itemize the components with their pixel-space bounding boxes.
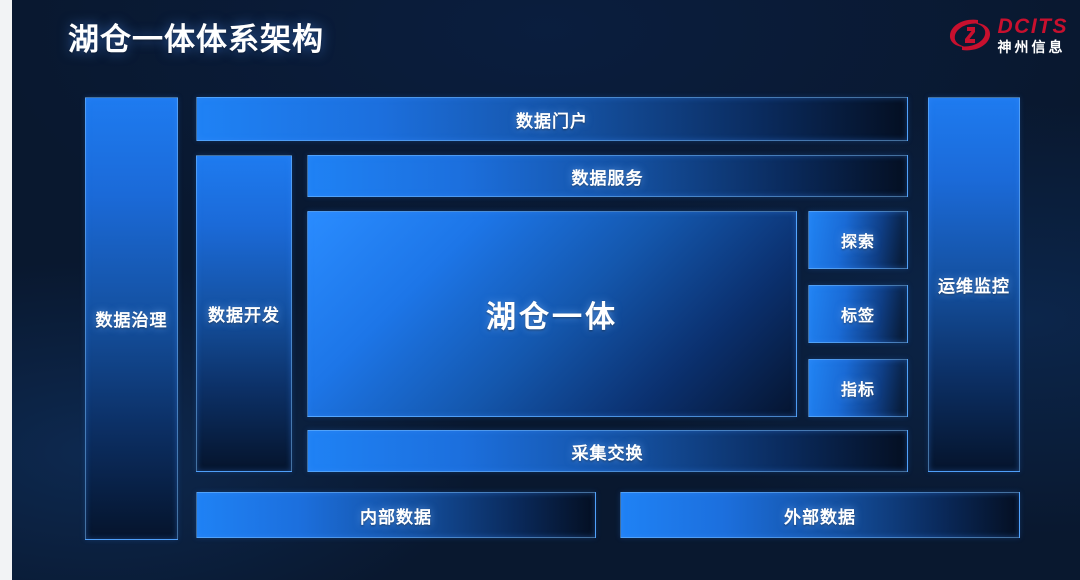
block-label: 标签	[841, 302, 875, 326]
block-external-data[interactable]: 外部数据	[620, 492, 1020, 538]
brand-name-en: DCITS	[998, 16, 1069, 37]
block-label: 数据门户	[516, 107, 588, 132]
brand-logo: DCITS 神州信息	[948, 10, 1069, 60]
block-ops-monitoring[interactable]: 运维监控	[928, 97, 1020, 472]
block-label: 指标	[841, 376, 875, 400]
block-label: 数据开发	[208, 301, 280, 326]
brand-logo-text: DCITS 神州信息	[998, 16, 1069, 54]
block-label: 运维监控	[938, 272, 1010, 297]
diagram-background: 湖仓一体体系架构 DCITS 神州信息 数据治理 数据开发 数据门	[12, 0, 1080, 580]
block-data-development[interactable]: 数据开发	[196, 155, 292, 472]
page-title: 湖仓一体体系架构	[68, 14, 324, 59]
block-data-service[interactable]: 数据服务	[307, 155, 908, 197]
brand-name-cn: 神州信息	[998, 40, 1069, 54]
block-label: 数据服务	[572, 164, 644, 189]
block-lakehouse[interactable]: 湖仓一体	[307, 211, 797, 417]
block-explore[interactable]: 探索	[808, 211, 908, 269]
block-data-portal[interactable]: 数据门户	[196, 97, 908, 141]
block-metrics[interactable]: 指标	[808, 359, 908, 417]
block-label: 湖仓一体	[486, 292, 618, 336]
block-collection-exchange[interactable]: 采集交换	[307, 430, 908, 472]
block-label: 外部数据	[784, 503, 856, 528]
block-internal-data[interactable]: 内部数据	[196, 492, 596, 538]
block-label: 采集交换	[572, 439, 644, 464]
block-data-governance[interactable]: 数据治理	[85, 97, 178, 540]
block-label: 内部数据	[360, 503, 432, 528]
swirl-icon	[948, 15, 992, 55]
slide-canvas: 湖仓一体体系架构 DCITS 神州信息 数据治理 数据开发 数据门	[0, 0, 1080, 580]
block-label: 数据治理	[96, 306, 168, 331]
block-tags[interactable]: 标签	[808, 285, 908, 343]
block-label: 探索	[841, 228, 875, 252]
